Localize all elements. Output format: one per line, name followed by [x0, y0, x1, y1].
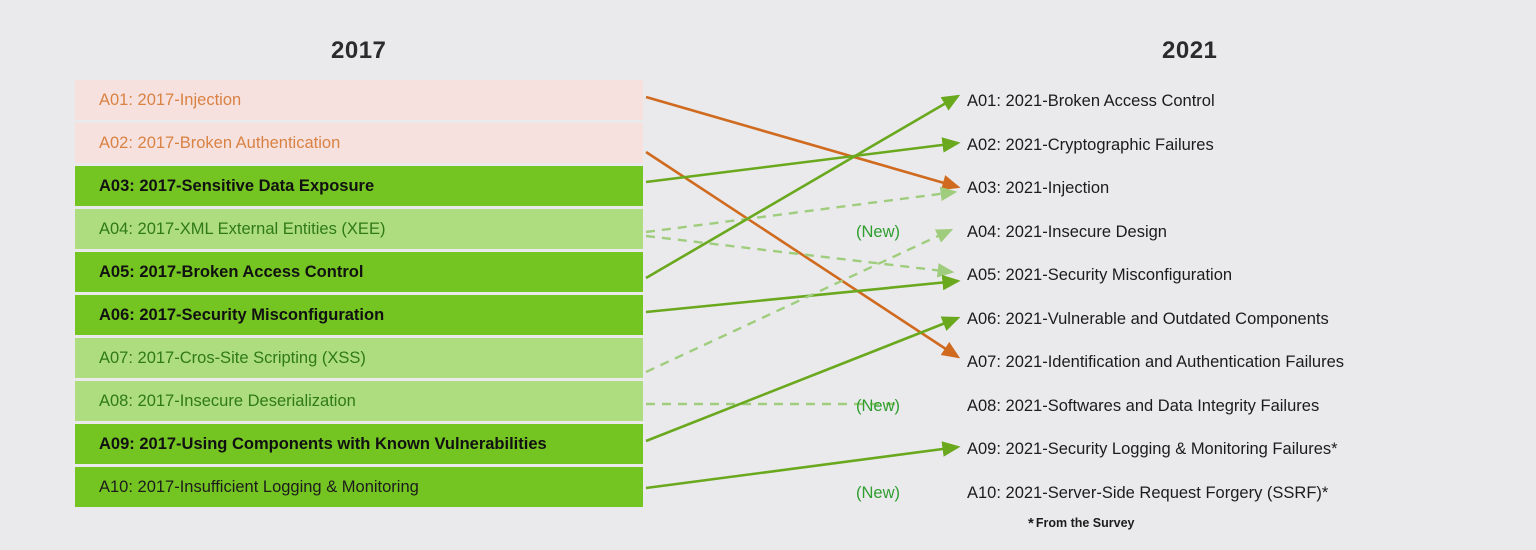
row-2021-a06-label: A06: 2021-Vulnerable and Outdated Compon… [967, 310, 1329, 328]
row-2017-a09[interactable]: A09: 2017-Using Components with Known Vu… [75, 424, 643, 464]
row-2017-a02-label: A02: 2017-Broken Authentication [99, 134, 340, 153]
row-2017-a07-label: A07: 2017-Cros-Site Scripting (XSS) [99, 349, 366, 368]
row-2021-a09-label: A09: 2021-Security Logging & Monitoring … [967, 440, 1338, 458]
footnote-text: From the Survey [1036, 516, 1135, 530]
row-2017-a01[interactable]: A01: 2017-Injection [75, 80, 643, 120]
row-2021-a08[interactable]: (New)A08: 2021-Softwares and Data Integr… [905, 385, 1505, 429]
row-2021-a04[interactable]: (New)A04: 2021-Insecure Design [905, 211, 1505, 255]
row-2021-a08-new-tag: (New) [856, 397, 900, 416]
row-2021-a05-label: A05: 2021-Security Misconfiguration [967, 266, 1232, 284]
row-2021-a10-label: A10: 2021-Server-Side Request Forgery (S… [967, 484, 1328, 502]
row-2017-a06-label: A06: 2017-Security Misconfiguration [99, 306, 384, 325]
row-2017-a05[interactable]: A05: 2017-Broken Access Control [75, 252, 643, 292]
row-2017-a09-label: A09: 2017-Using Components with Known Vu… [99, 435, 547, 454]
row-2021-a03-label: A03: 2021-Injection [967, 179, 1109, 197]
row-2021-a02-label: A02: 2021-Cryptographic Failures [967, 136, 1214, 154]
row-2017-a06[interactable]: A06: 2017-Security Misconfiguration [75, 295, 643, 335]
column-header-2017: 2017 [331, 37, 386, 65]
row-2017-a04[interactable]: A04: 2017-XML External Entities (XEE) [75, 209, 643, 249]
row-2021-a06[interactable]: A06: 2021-Vulnerable and Outdated Compon… [905, 298, 1505, 342]
owasp-top10-mapping-diagram: 2017 2021 A01: 2017-Injection A02: 2017-… [0, 0, 1536, 550]
row-2021-a10-new-tag: (New) [856, 484, 900, 503]
row-2021-a05[interactable]: A05: 2021-Security Misconfiguration [905, 254, 1505, 298]
row-2021-a10[interactable]: (New)A10: 2021-Server-Side Request Forge… [905, 472, 1505, 516]
row-2017-a03[interactable]: A03: 2017-Sensitive Data Exposure [75, 166, 643, 206]
footnote-asterisk-icon: * [1028, 515, 1034, 532]
row-2017-a07[interactable]: A07: 2017-Cros-Site Scripting (XSS) [75, 338, 643, 378]
row-2017-a01-label: A01: 2017-Injection [99, 91, 241, 110]
row-2021-a07-label: A07: 2021-Identification and Authenticat… [967, 353, 1344, 371]
row-2017-a10-label: A10: 2017-Insufficient Logging & Monitor… [99, 478, 419, 497]
row-2021-a02[interactable]: A02: 2021-Cryptographic Failures [905, 124, 1505, 168]
row-2017-a10[interactable]: A10: 2017-Insufficient Logging & Monitor… [75, 467, 643, 507]
row-2017-a03-label: A03: 2017-Sensitive Data Exposure [99, 177, 374, 196]
row-2017-a02[interactable]: A02: 2017-Broken Authentication [75, 123, 643, 163]
row-2021-a09[interactable]: A09: 2021-Security Logging & Monitoring … [905, 428, 1505, 472]
row-2021-a01-label: A01: 2021-Broken Access Control [967, 92, 1215, 110]
left-column-2017-list: A01: 2017-Injection A02: 2017-Broken Aut… [75, 80, 643, 510]
row-2021-a03[interactable]: A03: 2021-Injection [905, 167, 1505, 211]
row-2017-a05-label: A05: 2017-Broken Access Control [99, 263, 363, 282]
row-2021-a07[interactable]: A07: 2021-Identification and Authenticat… [905, 341, 1505, 385]
row-2021-a04-new-tag: (New) [856, 223, 900, 242]
row-2021-a04-label: A04: 2021-Insecure Design [967, 223, 1167, 241]
row-2017-a08[interactable]: A08: 2017-Insecure Deserialization [75, 381, 643, 421]
survey-footnote: *From the Survey [1028, 515, 1134, 532]
row-2017-a08-label: A08: 2017-Insecure Deserialization [99, 392, 356, 411]
row-2021-a08-label: A08: 2021-Softwares and Data Integrity F… [967, 397, 1319, 415]
right-column-2021-list: A01: 2021-Broken Access Control A02: 202… [905, 80, 1505, 515]
row-2017-a04-label: A04: 2017-XML External Entities (XEE) [99, 220, 385, 239]
row-2021-a01[interactable]: A01: 2021-Broken Access Control [905, 80, 1505, 124]
column-header-2021: 2021 [1162, 37, 1217, 65]
